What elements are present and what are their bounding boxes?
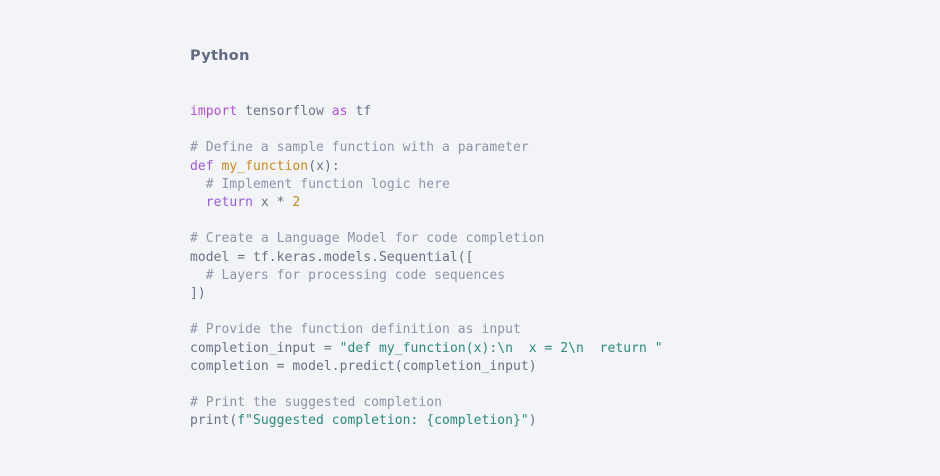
code-token-plain: )	[529, 413, 537, 428]
code-token-com: # Provide the function definition as inp…	[190, 322, 521, 337]
code-token-plain: tf	[348, 104, 372, 119]
code-token-plain: print(	[190, 413, 237, 428]
code-token-com: # Create a Language Model for code compl…	[190, 231, 544, 246]
code-token-plain: ])	[190, 286, 206, 301]
line-model: model = tf.keras.models.Sequential([	[190, 249, 663, 267]
line-comment-layers: # Layers for processing code sequences	[190, 267, 663, 285]
line-blank-1	[190, 121, 663, 139]
line-blank-2	[190, 212, 663, 230]
code-token-num: 2	[292, 195, 300, 210]
line-comment-implement: # Implement function logic here	[190, 176, 663, 194]
code-token-kw2: def	[190, 159, 214, 174]
code-token-com: # Print the suggested completion	[190, 395, 442, 410]
code-token-str: "def my_function(x):\n x = 2\n return "	[340, 341, 663, 356]
line-comment-create: # Create a Language Model for code compl…	[190, 230, 663, 248]
line-comment-define: # Define a sample function with a parame…	[190, 139, 663, 157]
line-return: return x * 2	[190, 194, 663, 212]
code-token-plain: x *	[253, 195, 292, 210]
line-completion-predict: completion = model.predict(completion_in…	[190, 358, 663, 376]
code-token-plain	[214, 159, 222, 174]
line-blank-4	[190, 376, 663, 394]
code-token-plain	[190, 195, 206, 210]
code-token-com: # Implement function logic here	[190, 177, 450, 192]
code-content[interactable]: import tensorflow as tf # Define a sampl…	[190, 103, 663, 431]
code-token-com: # Layers for processing code sequences	[190, 268, 505, 283]
code-token-kw2: return	[206, 195, 253, 210]
line-import: import tensorflow as tf	[190, 103, 663, 121]
code-token-fn: my_function	[222, 159, 309, 174]
code-token-plain: tensorflow	[237, 104, 332, 119]
code-token-plain: (x):	[308, 159, 340, 174]
code-token-plain: model = tf.keras.models.Sequential([	[190, 250, 474, 265]
line-close-bracket: ])	[190, 285, 663, 303]
code-token-kw: as	[332, 104, 348, 119]
line-def: def my_function(x):	[190, 158, 663, 176]
code-token-plain: completion_input =	[190, 341, 340, 356]
code-language-label: Python	[190, 48, 250, 64]
line-print: print(f"Suggested completion: {completio…	[190, 412, 663, 430]
code-token-com: # Define a sample function with a parame…	[190, 140, 529, 155]
line-comment-provide: # Provide the function definition as inp…	[190, 321, 663, 339]
line-completion-input: completion_input = "def my_function(x):\…	[190, 340, 663, 358]
code-token-str: f"Suggested completion: {completion}"	[237, 413, 528, 428]
code-token-kw: import	[190, 104, 237, 119]
code-token-plain: completion = model.predict(completion_in…	[190, 359, 537, 374]
line-blank-3	[190, 303, 663, 321]
line-comment-print: # Print the suggested completion	[190, 394, 663, 412]
